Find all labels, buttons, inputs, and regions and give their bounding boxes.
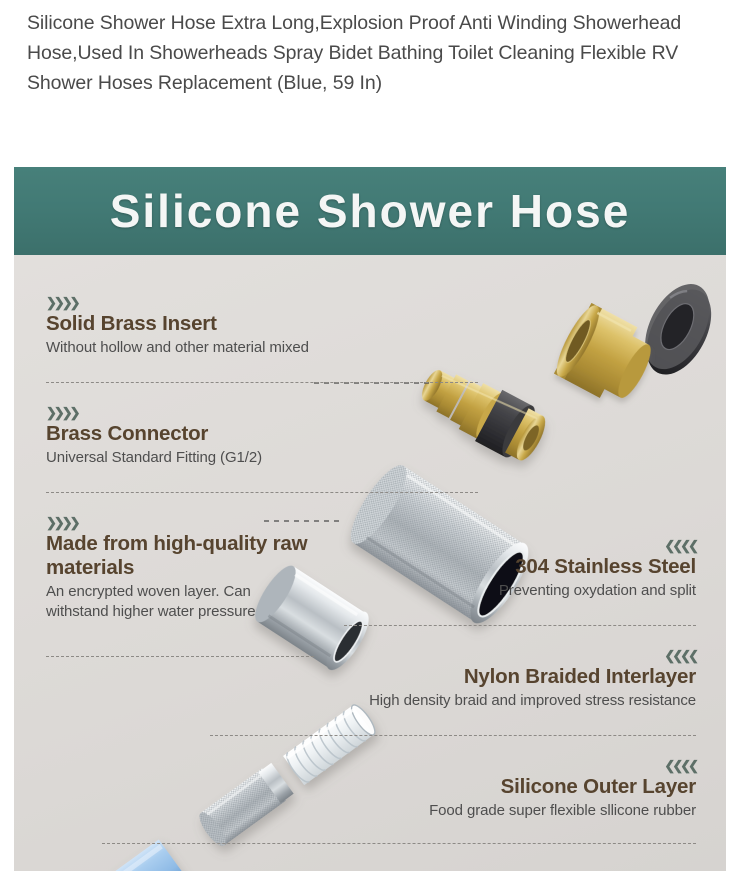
product-title: Silicone Shower Hose Extra Long,Explosio… <box>27 8 727 98</box>
feature-title: Brass Connector <box>46 422 376 446</box>
chevrons-left-icon: ❮❮❮❮ <box>276 649 696 662</box>
chevrons-left-icon: ❮❮❮❮ <box>276 759 696 772</box>
feature-subtitle: Food grade super flexible sllicone rubbe… <box>276 801 696 821</box>
feature-304-stainless-steel: ❮❮❮❮ 304 Stainless Steel Preventing oxyd… <box>316 539 696 601</box>
feature-silicone-outer-layer: ❮❮❮❮ Silicone Outer Layer Food grade sup… <box>276 759 696 821</box>
feature-divider <box>46 382 478 383</box>
feature-subtitle: High density braid and improved stress r… <box>276 691 696 711</box>
chevrons-right-icon: ❯❯❯❯ <box>46 516 308 529</box>
feature-divider <box>344 625 696 626</box>
feature-divider <box>46 656 314 657</box>
feature-subtitle: An encrypted woven layer. Can withstand … <box>46 582 308 622</box>
feature-title: Made from high-quality raw materials <box>46 532 308 580</box>
feature-title: Nylon Braided Interlayer <box>276 665 696 689</box>
feature-subtitle: Preventing oxydation and split <box>316 581 696 601</box>
feature-subtitle: Without hollow and other material mixed <box>46 338 376 358</box>
infographic-banner: Silicone Shower Hose <box>14 167 726 255</box>
feature-divider <box>210 735 696 736</box>
product-infographic: Silicone Shower Hose <box>14 167 726 871</box>
feature-solid-brass-insert: ❯❯❯❯ Solid Brass Insert Without hollow a… <box>46 296 376 358</box>
feature-title: 304 Stainless Steel <box>316 555 696 579</box>
feature-title: Solid Brass Insert <box>46 312 376 336</box>
feature-divider <box>102 843 696 844</box>
feature-subtitle: Universal Standard Fitting (G1/2) <box>46 448 376 468</box>
feature-divider <box>46 492 478 493</box>
banner-title: Silicone Shower Hose <box>14 167 726 255</box>
chevrons-left-icon: ❮❮❮❮ <box>316 539 696 552</box>
feature-title: Silicone Outer Layer <box>276 775 696 799</box>
feature-brass-connector: ❯❯❯❯ Brass Connector Universal Standard … <box>46 406 376 468</box>
chevrons-right-icon: ❯❯❯❯ <box>46 406 376 419</box>
feature-high-quality-raw-materials: ❯❯❯❯ Made from high-quality raw material… <box>46 516 308 622</box>
chevrons-right-icon: ❯❯❯❯ <box>46 296 376 309</box>
feature-nylon-braided-interlayer: ❮❮❮❮ Nylon Braided Interlayer High densi… <box>276 649 696 711</box>
